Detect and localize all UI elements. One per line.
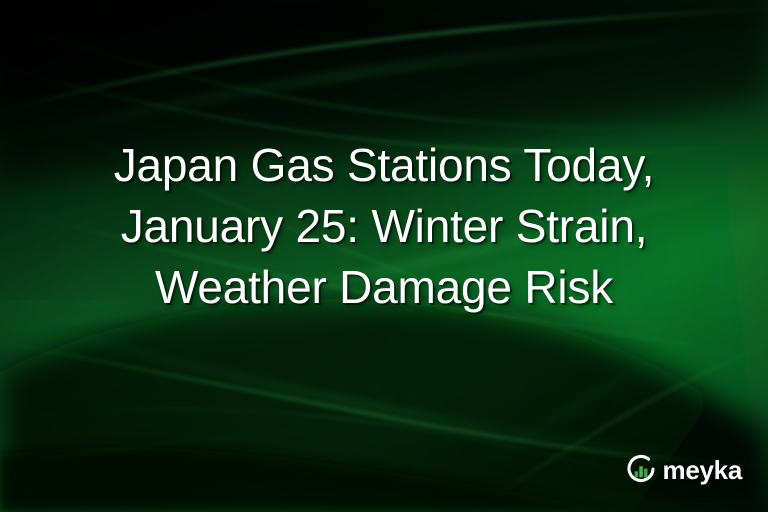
page-title: Japan Gas Stations Today, January 25: Wi… [52, 135, 716, 319]
article-cover-card: Japan Gas Stations Today, January 25: Wi… [0, 0, 768, 512]
meyka-logo[interactable]: meyka [625, 453, 742, 485]
meyka-bar-chart-ring-icon [625, 453, 657, 485]
headline-container: Japan Gas Stations Today, January 25: Wi… [0, 104, 768, 349]
meyka-wordmark: meyka [663, 457, 742, 483]
